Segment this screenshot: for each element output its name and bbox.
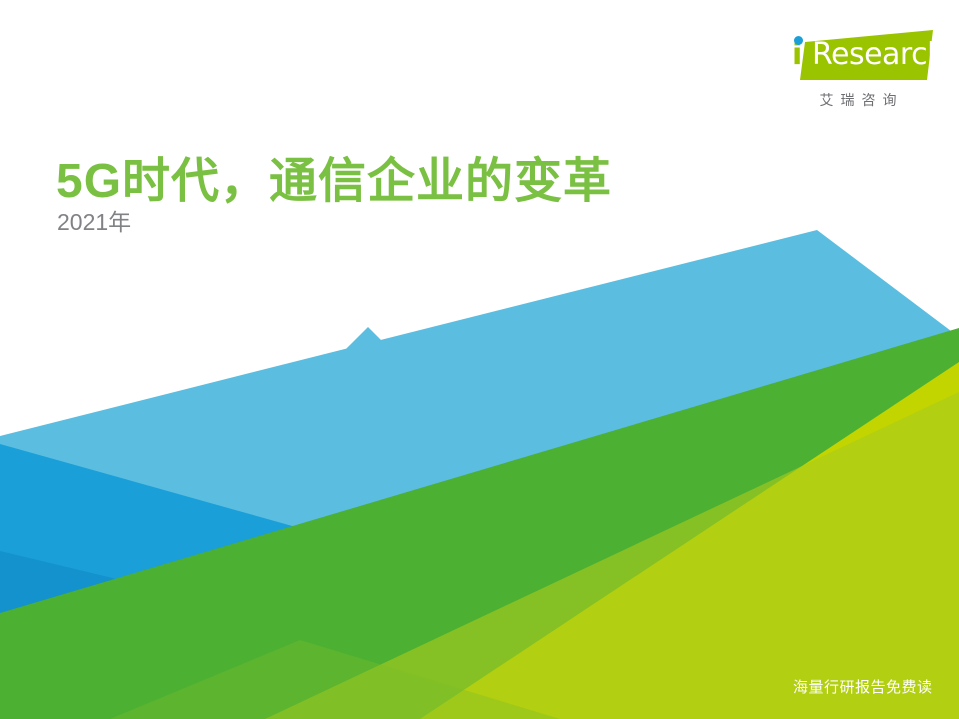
- footer-watermark: 海量行研报告免费读: [793, 679, 933, 697]
- slide-canvas: i Research 艾瑞咨询 5G时代，通信企业的变革 2021年 海量行研报…: [0, 0, 959, 719]
- logo-subtitle-cn: 艾瑞咨询: [782, 90, 934, 110]
- logo-wordmark: Research: [812, 40, 946, 70]
- logo-i-dot-icon: [794, 36, 803, 45]
- page-title: 5G时代，通信企业的变革: [56, 153, 612, 211]
- page-subtitle-year: 2021年: [57, 209, 131, 237]
- iresearch-logo: i Research 艾瑞咨询: [770, 28, 940, 120]
- logo-mark: i Research: [770, 28, 940, 88]
